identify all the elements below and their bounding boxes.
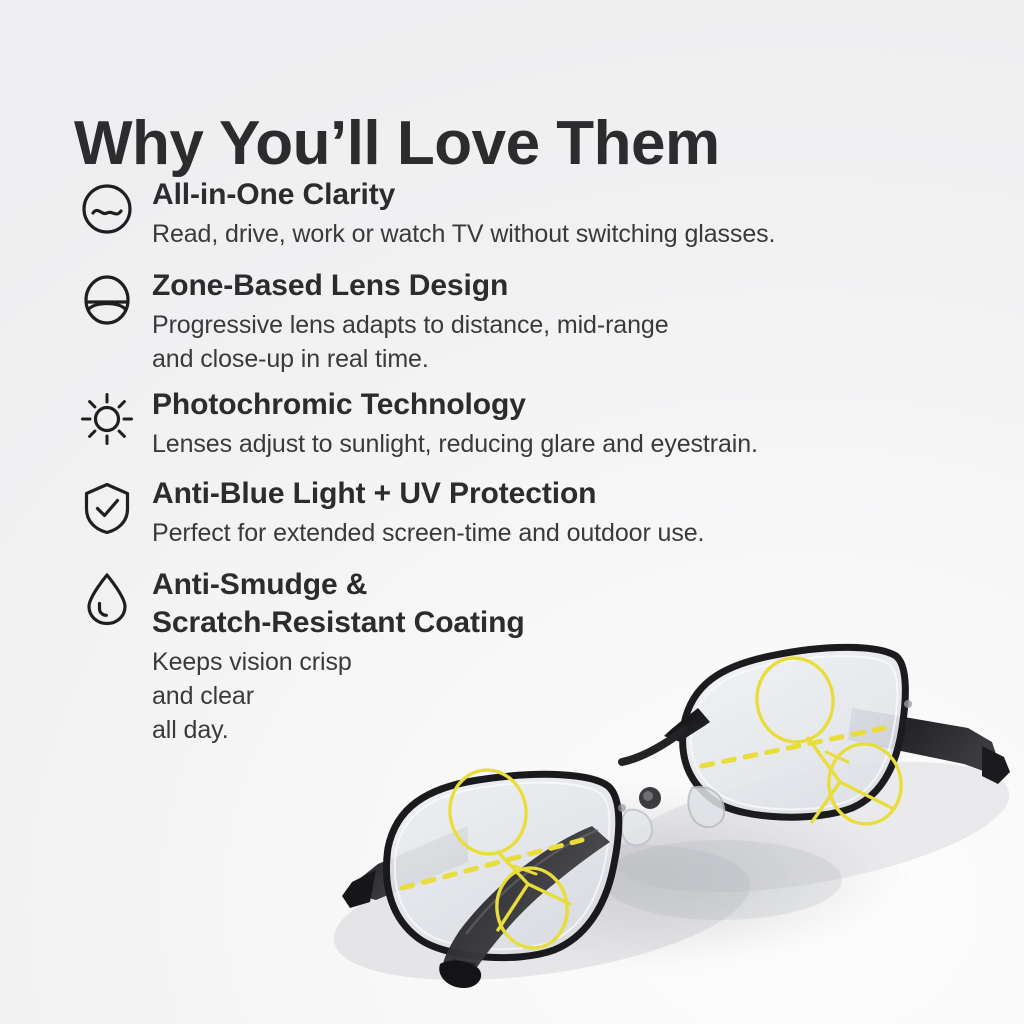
feature-title: All-in-One Clarity — [152, 176, 1024, 214]
sun-icon — [74, 386, 140, 456]
photo-drop-shadow — [332, 762, 972, 992]
feature-item-zone-based-lens-design: Zone-Based Lens Design Progressive lens … — [0, 267, 1024, 376]
feature-text: Zone-Based Lens Design Progressive lens … — [140, 267, 1024, 376]
feature-description: Lenses adjust to sunlight, reducing glar… — [152, 427, 1024, 461]
water-droplet-icon — [74, 566, 140, 636]
feature-description: Perfect for extended screen-time and out… — [152, 516, 1024, 550]
feature-title: Anti-Smudge & Scratch-Resistant Coating — [152, 566, 1024, 642]
lens-annotation-left — [402, 765, 582, 952]
left-lens-group — [342, 765, 619, 988]
feature-item-photochromic-technology: Photochromic Technology Lenses adjust to… — [0, 386, 1024, 461]
feature-item-anti-smudge-scratch-resistant-coating: Anti-Smudge & Scratch-Resistant Coating … — [0, 566, 1024, 747]
feature-text: Anti-Blue Light + UV Protection Perfect … — [140, 475, 1024, 550]
feature-item-anti-blue-light-uv-protection: Anti-Blue Light + UV Protection Perfect … — [0, 475, 1024, 550]
feature-title: Anti-Blue Light + UV Protection — [152, 475, 1024, 513]
page-title: Why You’ll Love Them — [74, 108, 720, 180]
feature-description: Keeps vision crisp and clear all day. — [152, 645, 1024, 747]
wave-in-circle-icon — [74, 176, 140, 246]
feature-description: Progressive lens adapts to distance, mid… — [152, 308, 1024, 376]
feature-list: All-in-One Clarity Read, drive, work or … — [0, 176, 1024, 747]
feature-text: Photochromic Technology Lenses adjust to… — [140, 386, 1024, 461]
feature-title: Photochromic Technology — [152, 386, 1024, 424]
feature-title: Zone-Based Lens Design — [152, 267, 1024, 305]
zone-lens-circle-icon — [74, 267, 140, 337]
feature-text: Anti-Smudge & Scratch-Resistant Coating … — [140, 566, 1024, 747]
promo-page: Why You’ll Love Them All-in-One Clarity … — [0, 0, 1024, 1024]
feature-item-all-in-one-clarity: All-in-One Clarity Read, drive, work or … — [0, 176, 1024, 251]
feature-description: Read, drive, work or watch TV without sw… — [152, 217, 1024, 251]
nose-pads — [621, 787, 724, 845]
shield-check-icon — [74, 475, 140, 545]
feature-text: All-in-One Clarity Read, drive, work or … — [140, 176, 1024, 251]
